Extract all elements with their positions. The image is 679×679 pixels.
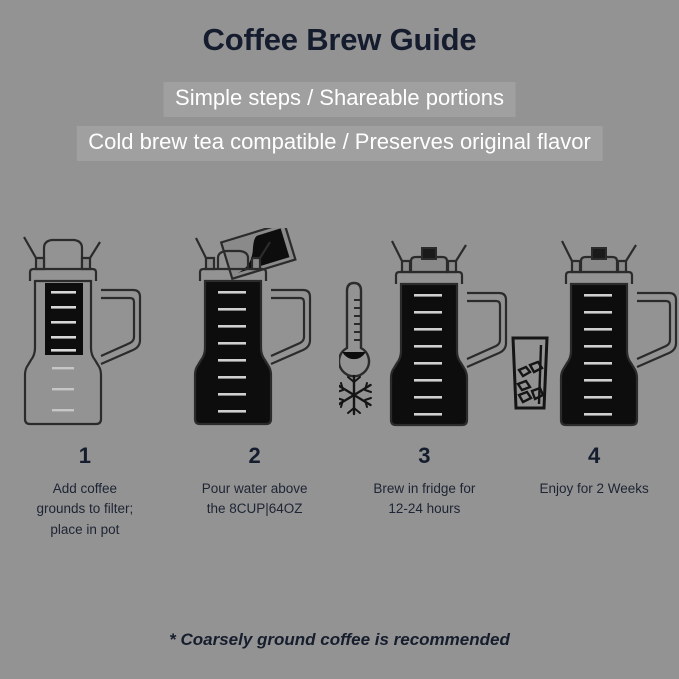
filter-insert (45, 283, 83, 355)
step-2-illustration (170, 228, 340, 443)
step-3-number: 3 (418, 445, 430, 467)
step-1: 1 Add coffee grounds to filter; place in… (0, 228, 170, 528)
step-3: 3 Brew in fridge for 12-24 hours (340, 228, 510, 528)
step-4: 4 Enjoy for 2 Weeks (509, 228, 679, 528)
tumbler-body (195, 281, 271, 424)
tumbler-with-iced-glass-icon (509, 228, 679, 443)
page-title: Coffee Brew Guide (0, 22, 679, 58)
iced-glass-icon (513, 338, 547, 408)
step-3-caption: Brew in fridge for 12-24 hours (373, 479, 475, 520)
step-1-illustration (0, 228, 170, 443)
coffee-brew-guide-infographic: Coffee Brew Guide Simple steps / Shareab… (0, 0, 679, 679)
tumbler-fridge-icon (339, 228, 509, 443)
step-3-illustration (339, 228, 509, 443)
step-2-caption: Pour water above the 8CUP|64OZ (202, 479, 308, 520)
closed-lid (392, 241, 466, 272)
water-pitcher-icon (221, 228, 295, 279)
step-1-number: 1 (79, 445, 91, 467)
tumbler-with-pouring-pitcher-icon (170, 228, 340, 443)
steps-row: 1 Add coffee grounds to filter; place in… (0, 228, 679, 528)
thermometer-icon (339, 283, 369, 376)
step-4-number: 4 (588, 445, 600, 467)
tumbler-body (561, 284, 637, 425)
subtitle-band-primary: Simple steps / Shareable portions (163, 82, 516, 117)
closed-lid (562, 241, 636, 272)
step-4-illustration (509, 228, 679, 443)
step-2-number: 2 (249, 445, 261, 467)
snowflake-icon (339, 376, 371, 414)
step-4-caption: Enjoy for 2 Weeks (539, 479, 648, 499)
tumbler-with-filter-icon (0, 228, 170, 443)
step-2: 2 Pour water above the 8CUP|64OZ (170, 228, 340, 528)
tumbler-body (391, 284, 467, 425)
step-1-caption: Add coffee grounds to filter; place in p… (36, 479, 133, 540)
footnote: * Coarsely ground coffee is recommended (0, 630, 679, 650)
subtitle-band-secondary: Cold brew tea compatible / Preserves ori… (76, 126, 603, 161)
